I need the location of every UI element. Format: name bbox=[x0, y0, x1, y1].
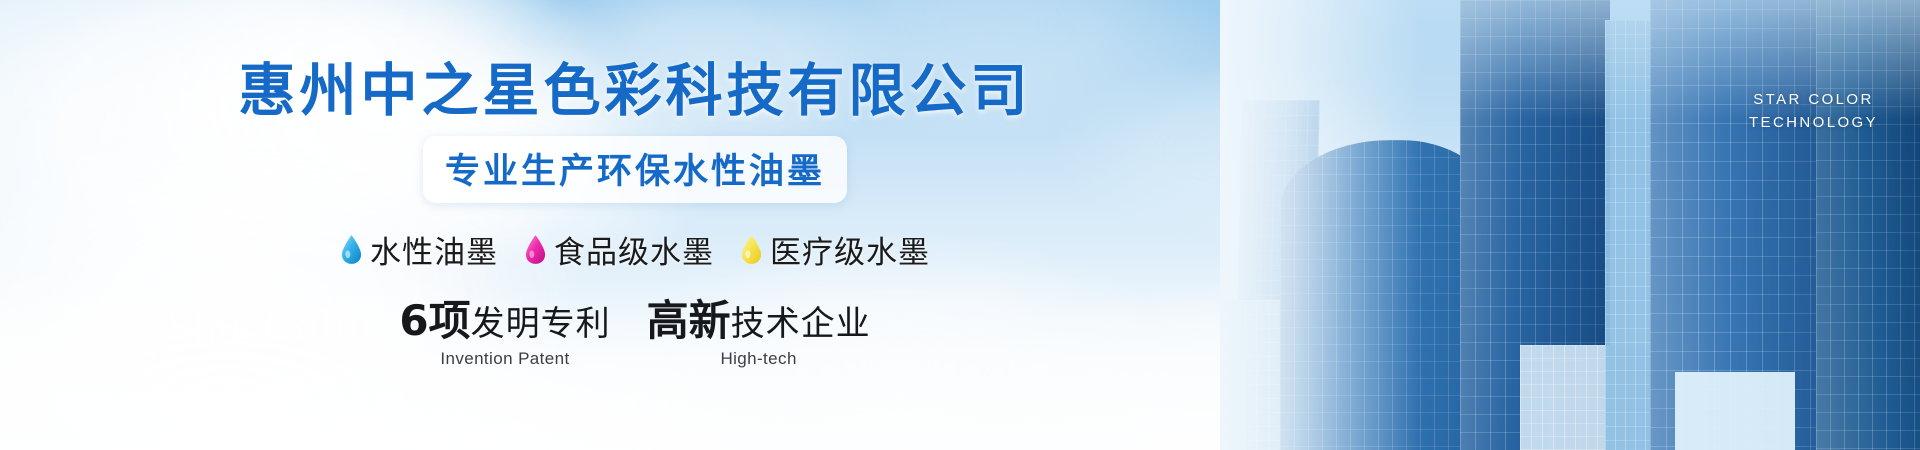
feature-label: 医疗级水墨 bbox=[770, 227, 930, 272]
badge-invention-patent: 6项发明专利 Invention Patent bbox=[399, 299, 610, 369]
hero-banner: Star Color STAR COLOR TECHNOLOGY 惠州中之星色彩… bbox=[0, 0, 1920, 450]
badge-english-label: Invention Patent bbox=[399, 349, 610, 369]
badge-high-tech: 高新技术企业 High-tech bbox=[647, 299, 871, 369]
water-drop-icon bbox=[740, 234, 763, 265]
building-shape bbox=[1675, 372, 1795, 450]
feature-label: 水性油墨 bbox=[370, 227, 498, 272]
corner-brand-line2: TECHNOLOGY bbox=[1749, 111, 1878, 134]
corner-brand: STAR COLOR TECHNOLOGY bbox=[1749, 88, 1878, 135]
feature-item: 食品级水墨 bbox=[524, 227, 714, 272]
badge-rest-text: 技术企业 bbox=[731, 307, 871, 343]
badge-chinese-line: 高新技术企业 bbox=[647, 299, 871, 343]
badge-english-label: High-tech bbox=[647, 349, 871, 369]
badge-strong-text: 6项 bbox=[399, 299, 470, 343]
badge-rest-text: 发明专利 bbox=[471, 307, 611, 343]
water-drop-icon bbox=[524, 234, 547, 265]
skyscraper-photo-region bbox=[1220, 0, 1920, 450]
corner-brand-line1: STAR COLOR bbox=[1749, 88, 1878, 111]
banner-content: 惠州中之星色彩科技有限公司 专业生产环保水性油墨 水性油墨 bbox=[0, 0, 1270, 450]
badge-strong-text: 高新 bbox=[647, 299, 731, 343]
feature-item: 医疗级水墨 bbox=[740, 227, 930, 272]
feature-label: 食品级水墨 bbox=[554, 227, 714, 272]
company-headline: 惠州中之星色彩科技有限公司 bbox=[239, 58, 1032, 125]
feature-list: 水性油墨 食品级水墨 bbox=[340, 227, 930, 272]
feature-item: 水性油墨 bbox=[340, 227, 498, 272]
badge-chinese-line: 6项发明专利 bbox=[399, 299, 610, 343]
subtitle-pill: 专业生产环保水性油墨 bbox=[423, 136, 847, 203]
credential-badges: 6项发明专利 Invention Patent 高新技术企业 High-tech bbox=[399, 299, 870, 369]
water-drop-icon bbox=[340, 234, 363, 265]
